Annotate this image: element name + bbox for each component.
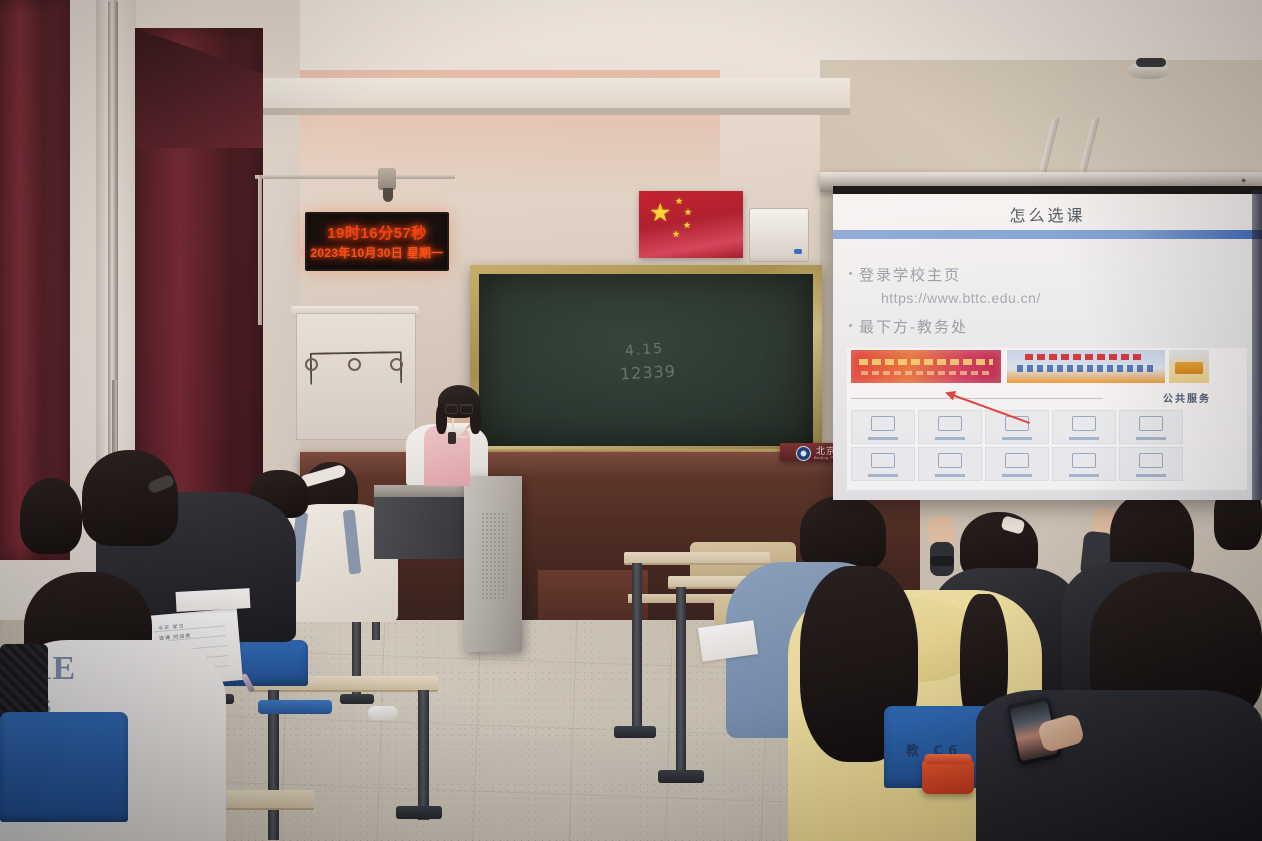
thermos-cup (922, 760, 974, 794)
wall-conduit (255, 175, 455, 179)
speaker-grill-icon (481, 512, 507, 600)
service-tile (985, 410, 1049, 444)
bullet-dot (849, 324, 852, 327)
desk-leg (418, 690, 429, 820)
wall-electrical-box (749, 208, 809, 262)
slide-url-text: https://www.bttc.edu.cn/ (881, 290, 1041, 306)
screen-top-band (833, 186, 1262, 194)
wall-camera-icon (383, 188, 393, 202)
service-tile (1119, 447, 1183, 481)
slide-title: 怎么选课 (833, 202, 1262, 226)
website-banner-blue (1007, 350, 1165, 383)
service-tile-highlighted (918, 410, 982, 444)
hook-icon (348, 358, 361, 371)
chinese-national-flag: ★ ★ ★ ★ ★ (639, 191, 743, 258)
slide-bullet-3: 最下方-教务处 (859, 316, 968, 337)
service-tile (851, 447, 915, 481)
ceiling-sensor-icon (1136, 58, 1166, 67)
blackboard (479, 274, 813, 446)
desk-leg (632, 563, 642, 733)
desk-foot (396, 806, 442, 819)
flag-star-small: ★ (683, 221, 691, 230)
website-banner-side (1169, 350, 1209, 383)
school-emblem-icon (796, 446, 811, 461)
led-clock-display: 19时16分57秒 2023年10月30日 星期一 (305, 212, 449, 271)
lectern-lower (374, 497, 478, 559)
projection-screen: 怎么选课 登录学校主页 https://www.bttc.edu.cn/ 最下方… (833, 190, 1262, 500)
desk-foot (658, 770, 704, 783)
curtain-left (0, 0, 70, 560)
student-hair (800, 496, 886, 572)
flag-star-small: ★ (675, 197, 683, 206)
glasses-icon (445, 404, 473, 412)
slide-bullet-1: 登录学校主页 (859, 264, 961, 285)
led-time-text: 19时16分57秒 (327, 222, 427, 243)
shoe (368, 706, 398, 720)
website-section-label: 公共服务 (1163, 390, 1211, 405)
soffit-edge (250, 108, 850, 115)
desk-foot (340, 694, 374, 704)
website-banner-red (851, 350, 1001, 383)
chair-seat (258, 700, 332, 714)
chalk-writing: 4.15 (624, 341, 664, 360)
classroom-photo: 19时16分57秒 2023年10月30日 星期一 ★ ★ ★ ★ ★ 4.15… (0, 0, 1262, 841)
student-hair (20, 478, 82, 554)
website-divider (851, 398, 1103, 399)
chalk-writing: 12339 (620, 362, 677, 384)
desk-leg (676, 587, 686, 777)
service-tile (1119, 410, 1183, 444)
led-date-text: 2023年10月30日 星期一 (310, 244, 443, 261)
website-service-tiles (851, 410, 1181, 481)
hook-icon (305, 358, 318, 371)
bullet-dot (849, 272, 852, 275)
wall-conduit-vertical (258, 175, 262, 325)
wrist-watch (930, 556, 954, 566)
wall-speaker-icon (378, 168, 396, 190)
slide-accent-bar (833, 230, 1262, 239)
chair-back (0, 712, 128, 822)
student-hair (82, 450, 178, 546)
desk-top (624, 552, 770, 565)
microphone-transmitter (448, 432, 456, 444)
slide-website-screenshot: 公共服务 (847, 348, 1247, 490)
service-tile (851, 410, 915, 444)
flag-star-small: ★ (672, 230, 680, 239)
service-tile (985, 447, 1049, 481)
screen-right-edge (1252, 190, 1262, 500)
service-tile (1052, 410, 1116, 444)
housing-brand-mark: ◆ (1241, 177, 1246, 184)
service-tile (1052, 447, 1116, 481)
service-tile (918, 447, 982, 481)
flag-star-large: ★ (649, 201, 671, 226)
hook-icon (390, 358, 403, 371)
flag-star-small: ★ (684, 208, 692, 217)
paper-sheet (176, 588, 251, 612)
wall-soffit (250, 78, 850, 112)
desk-foot (614, 726, 656, 738)
